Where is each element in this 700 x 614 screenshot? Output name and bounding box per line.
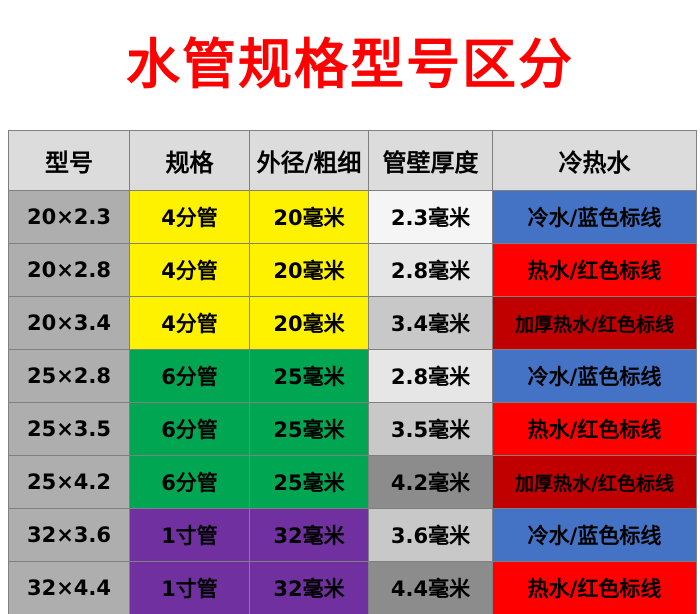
table-header-row: 型号 规格 外径/粗细 管壁厚度 冷热水	[9, 131, 697, 191]
cell-spec: 6分管	[130, 456, 250, 509]
column-header-model: 型号	[9, 131, 130, 191]
cell-wall-thickness: 3.5毫米	[369, 403, 493, 456]
table-row: 25×3.56分管25毫米3.5毫米热水/红色标线	[9, 403, 697, 456]
page-title: 水管规格型号区分	[126, 38, 574, 92]
cell-outer-diameter: 20毫米	[250, 297, 369, 350]
column-header-spec: 规格	[130, 131, 250, 191]
cell-wall-thickness: 4.2毫米	[369, 456, 493, 509]
cell-spec: 6分管	[130, 403, 250, 456]
cell-outer-diameter: 20毫米	[250, 191, 369, 244]
cell-wall-thickness: 3.6毫米	[369, 509, 493, 562]
cell-outer-diameter: 25毫米	[250, 456, 369, 509]
cell-water-temp: 冷水/蓝色标线	[493, 509, 697, 562]
title-bar: 水管规格型号区分	[0, 0, 700, 130]
cell-spec: 4分管	[130, 297, 250, 350]
cell-water-temp: 加厚热水/红色标线	[493, 297, 697, 350]
cell-spec: 4分管	[130, 191, 250, 244]
table-head: 型号 规格 外径/粗细 管壁厚度 冷热水	[9, 131, 697, 191]
cell-outer-diameter: 32毫米	[250, 562, 369, 614]
table-row: 25×2.86分管25毫米2.8毫米冷水/蓝色标线	[9, 350, 697, 403]
table-row: 25×4.26分管25毫米4.2毫米加厚热水/红色标线	[9, 456, 697, 509]
cell-outer-diameter: 25毫米	[250, 350, 369, 403]
cell-water-temp: 热水/红色标线	[493, 244, 697, 297]
cell-model: 25×4.2	[9, 456, 130, 509]
cell-model: 25×2.8	[9, 350, 130, 403]
cell-outer-diameter: 32毫米	[250, 509, 369, 562]
cell-outer-diameter: 20毫米	[250, 244, 369, 297]
cell-wall-thickness: 2.3毫米	[369, 191, 493, 244]
cell-water-temp: 热水/红色标线	[493, 562, 697, 614]
table-body: 20×2.34分管20毫米2.3毫米冷水/蓝色标线20×2.84分管20毫米2.…	[9, 191, 697, 614]
cell-wall-thickness: 2.8毫米	[369, 244, 493, 297]
cell-wall-thickness: 2.8毫米	[369, 350, 493, 403]
cell-spec: 4分管	[130, 244, 250, 297]
column-header-wall-thickness: 管壁厚度	[369, 131, 493, 191]
cell-outer-diameter: 25毫米	[250, 403, 369, 456]
cell-water-temp: 热水/红色标线	[493, 403, 697, 456]
table-row: 20×2.84分管20毫米2.8毫米热水/红色标线	[9, 244, 697, 297]
spec-table-container: 型号 规格 外径/粗细 管壁厚度 冷热水 20×2.34分管20毫米2.3毫米冷…	[8, 130, 696, 614]
table-row: 32×4.41寸管32毫米4.4毫米热水/红色标线	[9, 562, 697, 614]
pipe-spec-table: 型号 规格 外径/粗细 管壁厚度 冷热水 20×2.34分管20毫米2.3毫米冷…	[8, 130, 697, 614]
cell-wall-thickness: 3.4毫米	[369, 297, 493, 350]
cell-water-temp: 冷水/蓝色标线	[493, 191, 697, 244]
page-root: 水管规格型号区分 型号 规格 外径/粗细 管壁厚度 冷热水 20×2.34分管2…	[0, 0, 700, 614]
cell-model: 20×3.4	[9, 297, 130, 350]
cell-model: 25×3.5	[9, 403, 130, 456]
table-row: 20×3.44分管20毫米3.4毫米加厚热水/红色标线	[9, 297, 697, 350]
cell-wall-thickness: 4.4毫米	[369, 562, 493, 614]
cell-model: 32×4.4	[9, 562, 130, 614]
cell-water-temp: 冷水/蓝色标线	[493, 350, 697, 403]
cell-model: 32×3.6	[9, 509, 130, 562]
column-header-water-temp: 冷热水	[493, 131, 697, 191]
cell-spec: 1寸管	[130, 562, 250, 614]
column-header-outer-diameter: 外径/粗细	[250, 131, 369, 191]
table-row: 20×2.34分管20毫米2.3毫米冷水/蓝色标线	[9, 191, 697, 244]
cell-spec: 1寸管	[130, 509, 250, 562]
table-row: 32×3.61寸管32毫米3.6毫米冷水/蓝色标线	[9, 509, 697, 562]
cell-water-temp: 加厚热水/红色标线	[493, 456, 697, 509]
cell-model: 20×2.8	[9, 244, 130, 297]
cell-model: 20×2.3	[9, 191, 130, 244]
cell-spec: 6分管	[130, 350, 250, 403]
